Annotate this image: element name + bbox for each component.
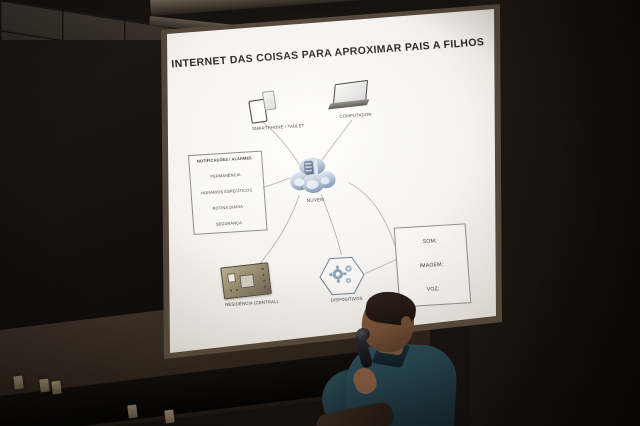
wall-outlet: [51, 381, 62, 395]
lecture-room-scene: INTERNET DAS COISAS PARA APROXIMAR PAIS …: [0, 0, 640, 426]
wall-outlet: [164, 410, 175, 424]
residence-board-icon: [220, 262, 272, 299]
wall-outlet: [127, 405, 138, 419]
laptop-icon: [327, 81, 369, 113]
wall-outlet: [39, 379, 50, 393]
presenter: [318, 292, 498, 426]
attribute-item: HORÁRIOS ESPECÍFICOS: [191, 187, 263, 197]
attribute-item: ROTINA DIÁRIA: [192, 203, 264, 213]
attributes-list: NOTIFICAÇÕES / ALARMES PERMANÊNCIA HORÁR…: [188, 155, 265, 229]
media-item: IMAGEM;: [396, 259, 466, 271]
media-list: SOM; IMAGEM; VOZ;: [395, 235, 469, 295]
cloud-icon: [287, 153, 338, 196]
attribute-item: PERMANÊNCIA: [189, 171, 261, 181]
wall-outlet: [13, 376, 24, 390]
